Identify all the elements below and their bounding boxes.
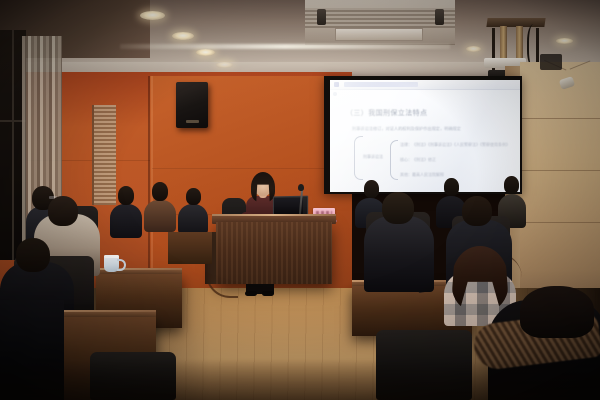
presenter-desk-texture [216, 222, 332, 284]
ceiling-hvac-cassette [305, 0, 455, 45]
attendee-head [364, 180, 379, 198]
recessed-downlight [466, 46, 481, 52]
presenter-shoe [245, 291, 257, 296]
gooseneck-microphone [298, 184, 304, 191]
attendee-head [462, 196, 492, 226]
attendee-head [16, 238, 50, 272]
hvac-grille [305, 8, 455, 28]
attendee-head [152, 182, 168, 201]
attendee-head [504, 176, 519, 194]
attendee-body [110, 204, 142, 238]
slide-body: （三）我国刑保立法特点 刑事诉讼法修订，对证人的权利及保护作出规定，明确规定 刑… [330, 94, 520, 192]
slide-item: 核心：《刑法》修正 [400, 157, 520, 163]
hvac-vent [317, 9, 326, 25]
slide-item: 其他：最高人民法院解释 [400, 172, 520, 178]
attendee-head [118, 186, 134, 205]
attendee-body [364, 216, 434, 292]
attendee-head [520, 286, 594, 338]
recessed-downlight [140, 11, 165, 20]
floor-foreground-shadow [0, 360, 600, 400]
recessed-downlight [556, 38, 573, 44]
presenter-desk-edge [212, 214, 336, 216]
recessed-downlight [196, 49, 215, 56]
conference-room-photo: （三）我国刑保立法特点 刑事诉讼法修订，对证人的权利及保护作出规定，明确规定 刑… [0, 0, 600, 400]
slide-item: 法律：《刑法》《刑事诉讼法》《人民警察法》《警察使用条例》 [400, 142, 520, 148]
slide-app-icon [334, 82, 339, 87]
slide-paragraph: 刑事诉讼法修订，对证人的权利及保护作出规定，明确规定 [352, 126, 516, 132]
projector-lift-rod [516, 26, 523, 60]
attendee-body [144, 200, 176, 232]
attendee-body [178, 204, 208, 234]
projection-screen[interactable]: （三）我国刑保立法特点 刑事诉讼法修订，对证人的权利及保护作出规定，明确规定 刑… [330, 80, 520, 192]
hvac-diffuser [335, 28, 423, 41]
attendee-desk-small [168, 232, 212, 264]
slide-brace-inner [390, 140, 398, 180]
speaker-logo [186, 120, 199, 123]
presenter-shoe [262, 291, 274, 296]
attendee-head [186, 188, 201, 205]
audience-desk-edge [60, 310, 156, 312]
slide-brace-outer [354, 136, 363, 180]
attendee-head [48, 196, 78, 226]
wall-louver-panel [92, 105, 116, 205]
attendee-head [382, 192, 414, 224]
ceiling-light-strip [120, 44, 450, 49]
wall-seam [148, 76, 150, 296]
slide-heading: （三）我国刑保立法特点 [346, 108, 506, 118]
attendee-head [444, 178, 459, 196]
recessed-downlight [172, 32, 194, 40]
wall-tan-right [520, 62, 600, 322]
hvac-vent [435, 9, 444, 25]
wall-mounted-speaker [540, 54, 562, 70]
mug-rim [104, 255, 119, 258]
window-mullion [12, 30, 14, 260]
slide-app-toolbar [344, 82, 418, 87]
projector-lift-rod [500, 26, 507, 60]
wall-seam [152, 168, 324, 169]
